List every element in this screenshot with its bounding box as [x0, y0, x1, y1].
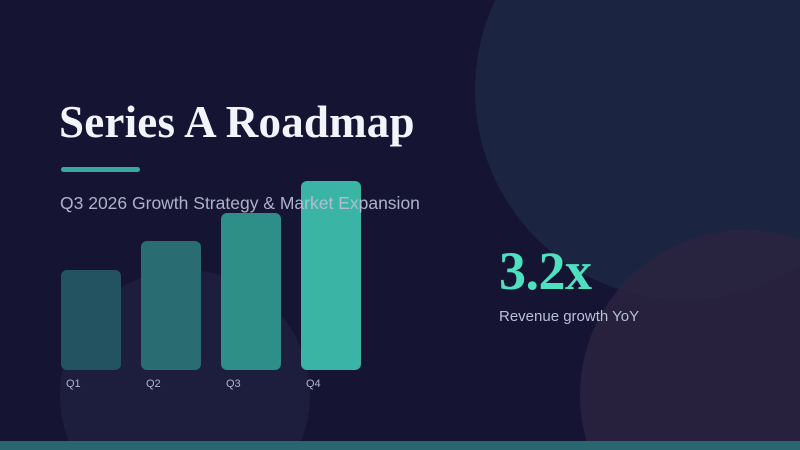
bar-label-q1: Q1 [66, 378, 81, 390]
slide-subtitle: Q3 2026 Growth Strategy & Market Expansi… [60, 193, 420, 214]
slide-title: Series A Roadmap [59, 96, 415, 148]
stat-caption: Revenue growth YoY [499, 308, 759, 325]
bar-chart: Q1Q2Q3Q4 [0, 0, 400, 450]
footer-accent-strip [0, 441, 800, 450]
presentation-slide: Q1Q2Q3Q4 Series A Roadmap Q3 2026 Growth… [0, 0, 800, 450]
bar-q3 [221, 213, 281, 370]
title-accent-rule [61, 167, 140, 172]
bar-q1 [61, 270, 121, 370]
stat-highlight: 3.2x Revenue growth YoY [499, 244, 759, 325]
bar-q2 [141, 241, 201, 370]
bar-label-q2: Q2 [146, 378, 161, 390]
slide-content: Q1Q2Q3Q4 Series A Roadmap Q3 2026 Growth… [0, 0, 800, 450]
stat-value: 3.2x [499, 244, 759, 298]
bar-label-q4: Q4 [306, 378, 321, 390]
bar-label-q3: Q3 [226, 378, 241, 390]
